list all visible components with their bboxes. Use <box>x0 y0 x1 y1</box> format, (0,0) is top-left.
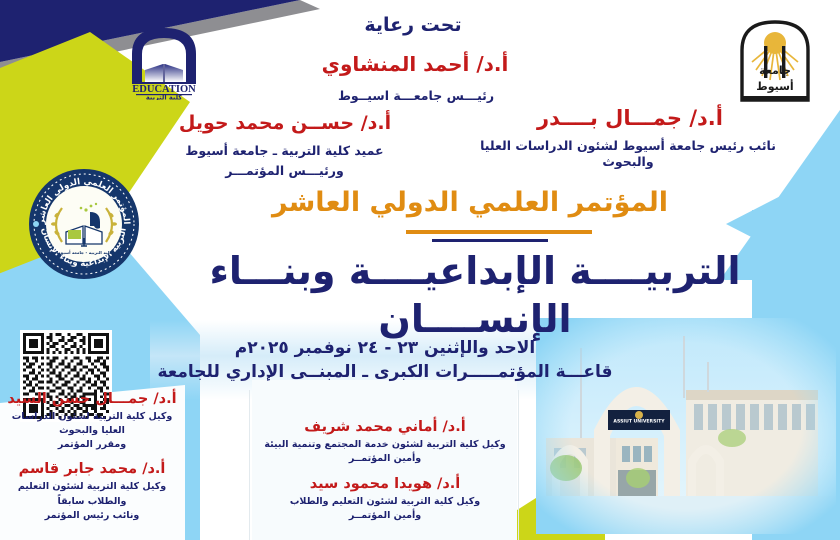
patron-role-howail-2: ورئيـــس المؤتمـــر <box>142 163 427 179</box>
footer-separator-right <box>518 390 519 540</box>
university-logo-arabic-line1: جامعة <box>759 64 791 77</box>
committee-member-role-1: وكيل كلية التربية لشئون التعليم والطلاب … <box>2 480 182 509</box>
patron-role-howail-1: عميد كلية التربية ـ جامعة أسيوط <box>142 143 427 159</box>
committee-member-name: أ.د/ أماني محمد شريف <box>256 419 514 435</box>
assiut-university-logo: جامعة أسيوط <box>732 16 818 104</box>
event-venue: قاعـــة المؤتمـــــرات الكبرى ـ المبنــى… <box>150 362 620 383</box>
event-date: الاحد والإثنين ٢٣ - ٢٤ نوفمبر ٢٠٢٥م <box>150 338 620 359</box>
committee-member-name: أ.د/ جمـــال حسن السيد <box>2 391 182 407</box>
committee-member: أ.د/ محمد جابر قاسم وكيل كلية التربية لش… <box>2 461 182 523</box>
committee-column-center: أ.د/ أماني محمد شريف وكيل كلية التربية ل… <box>256 419 514 532</box>
conference-theme: التربيــــة الإبداعيــــة وبنـــاء الإنس… <box>130 248 820 343</box>
title-rule-navy <box>432 239 548 242</box>
committee-member-role-2: وأمين المؤتمــر <box>256 509 514 523</box>
committee-member-role-2: ونائب رئيس المؤتمر <box>2 509 182 523</box>
title-rule-orange <box>406 230 592 234</box>
committee-member-role-1: وكيل كلية التربية لشئون التعليم والطلاب <box>256 495 514 509</box>
conference-poster: ASSIUT UNIVERSITY <box>0 0 840 540</box>
committee-member-name: أ.د/ هويدا محمود سيد <box>256 476 514 492</box>
faculty-of-education-logo: EDUCATION كلية التربية <box>118 20 210 100</box>
committee-member: أ.د/ أماني محمد شريف وكيل كلية التربية ل… <box>256 419 514 467</box>
footer-separator-left <box>249 390 250 540</box>
conference-seal: المؤتمر العلمي الدولي العاشر التربية الإ… <box>28 168 140 280</box>
committee-member-role-2: ومقرر المؤتمر <box>2 438 182 452</box>
conference-title: المؤتمر العلمي الدولي العاشر <box>200 186 740 220</box>
committee-member-role-2: وأمين المؤتمــر <box>256 452 514 466</box>
committee-member-name: أ.د/ محمد جابر قاسم <box>2 461 182 477</box>
patron-role-manshawy: رئيـــس جامعـــة اسيــوط <box>276 88 556 104</box>
seal-center-text: كلية التربية - جامعة أسيوط <box>56 249 112 255</box>
university-logo-arabic-line2: أسيوط <box>756 79 793 93</box>
patron-name-howail: أ.د/ حســن محمد حويل <box>140 112 430 136</box>
patron-name-manshawy: أ.د/ أحمد المنشاوي <box>270 52 560 77</box>
committee-member: أ.د/ هويدا محمود سيد وكيل كلية التربية ل… <box>256 476 514 524</box>
committee-member-role-1: وكيل كلية التربية لشئون خدمة المجتمع وتن… <box>256 438 514 452</box>
patron-name-badr: أ.د/ جمـــال بــــدر <box>470 105 790 131</box>
committee-column-left: أ.د/ جمـــال حسن السيد وكيل كلية التربية… <box>2 391 182 533</box>
committee-member: أ.د/ جمـــال حسن السيد وكيل كلية التربية… <box>2 391 182 453</box>
education-logo-arabic: كلية التربية <box>146 94 182 101</box>
committee-member-role-1: وكيل كلية التربية لشئون الدراسات العليا … <box>2 410 182 439</box>
patron-label: تحت رعاية <box>288 14 538 38</box>
patron-role-badr: نائب رئيس جامعة أسيوط لشئون الدراسات الع… <box>458 138 798 169</box>
